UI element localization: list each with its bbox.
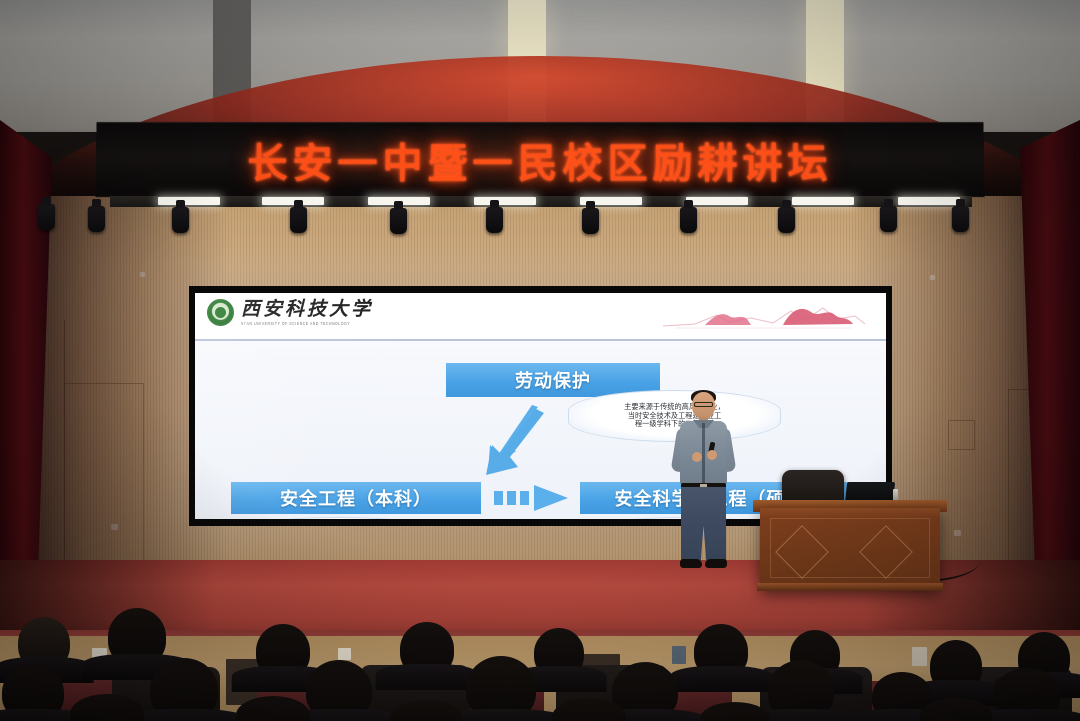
slide-header: 西安科技大学 XI'AN UNIVERSITY OF SCIENCE AND T… bbox=[195, 293, 886, 341]
arrow-right-chevron-icon bbox=[494, 484, 570, 512]
audience-member bbox=[994, 668, 1060, 721]
podium-diamond-motif bbox=[859, 525, 913, 579]
spotlight-icon bbox=[290, 207, 307, 233]
spotlight-icon bbox=[88, 206, 105, 232]
spotlight-icon bbox=[582, 208, 599, 234]
audience-member bbox=[466, 656, 536, 721]
wall-switch bbox=[672, 646, 686, 664]
podium-diamond-motif bbox=[775, 525, 829, 579]
spotlight-icon bbox=[880, 206, 897, 232]
spotlight-icon bbox=[390, 208, 407, 234]
university-name-en: XI'AN UNIVERSITY OF SCIENCE AND TECHNOLO… bbox=[241, 321, 373, 327]
audience-member bbox=[534, 628, 584, 678]
audience-member bbox=[930, 640, 982, 692]
podium-desk bbox=[760, 508, 940, 590]
audience-member bbox=[2, 664, 64, 721]
wall-switch bbox=[912, 647, 927, 666]
wall-switch bbox=[338, 648, 351, 660]
spotlight-icon bbox=[778, 207, 795, 233]
speaker-shirt-placket bbox=[702, 423, 705, 483]
audience-member bbox=[256, 624, 310, 678]
university-seal-icon bbox=[207, 299, 234, 326]
spotlight-icon bbox=[952, 206, 969, 232]
audience-member bbox=[400, 622, 454, 676]
spotlight-icon bbox=[486, 207, 503, 233]
speaker-presenter bbox=[668, 392, 740, 578]
speaker-shoe-right bbox=[705, 559, 727, 568]
spotlight-icon bbox=[680, 207, 697, 233]
podium-panel bbox=[770, 518, 930, 578]
university-name-cn: 西安科技大学 bbox=[241, 300, 373, 319]
audience-member bbox=[108, 608, 166, 666]
audience-member bbox=[18, 617, 70, 669]
arrow-down-left-icon bbox=[476, 403, 550, 479]
speaker-hand-right bbox=[707, 450, 717, 460]
spotlight-icon bbox=[38, 204, 55, 230]
audience-member bbox=[150, 658, 218, 721]
audience-member bbox=[694, 624, 748, 678]
mountain-ink-decoration bbox=[655, 302, 870, 332]
glasses-icon bbox=[694, 402, 713, 407]
speaker-shoe-left bbox=[680, 559, 702, 568]
audience-member bbox=[306, 660, 372, 721]
speaker-hand-left bbox=[692, 452, 702, 462]
led-banner-text: 长安一中暨一民校区励耕讲坛 bbox=[247, 131, 832, 189]
stage-light-bar bbox=[110, 196, 972, 207]
slide-callout-bottom-left: 1999年国家招生目录统一改名 字为安全工程专业，2012年设 立安全科学与工程… bbox=[217, 517, 461, 519]
led-banner: 长安一中暨一民校区励耕讲坛 bbox=[96, 122, 985, 197]
spotlight-icon bbox=[172, 207, 189, 233]
podium-base bbox=[757, 583, 943, 591]
auditorium-photo: 长安一中暨一民校区励耕讲坛 西安科技大学 XI'AN UNIVERSIT bbox=[0, 0, 1080, 721]
speaker-jeans bbox=[681, 487, 726, 561]
university-logo: 西安科技大学 XI'AN UNIVERSITY OF SCIENCE AND T… bbox=[207, 299, 373, 326]
audience-member bbox=[768, 660, 834, 721]
slide-box-safety-engineering: 安全工程（本科） bbox=[231, 482, 481, 514]
